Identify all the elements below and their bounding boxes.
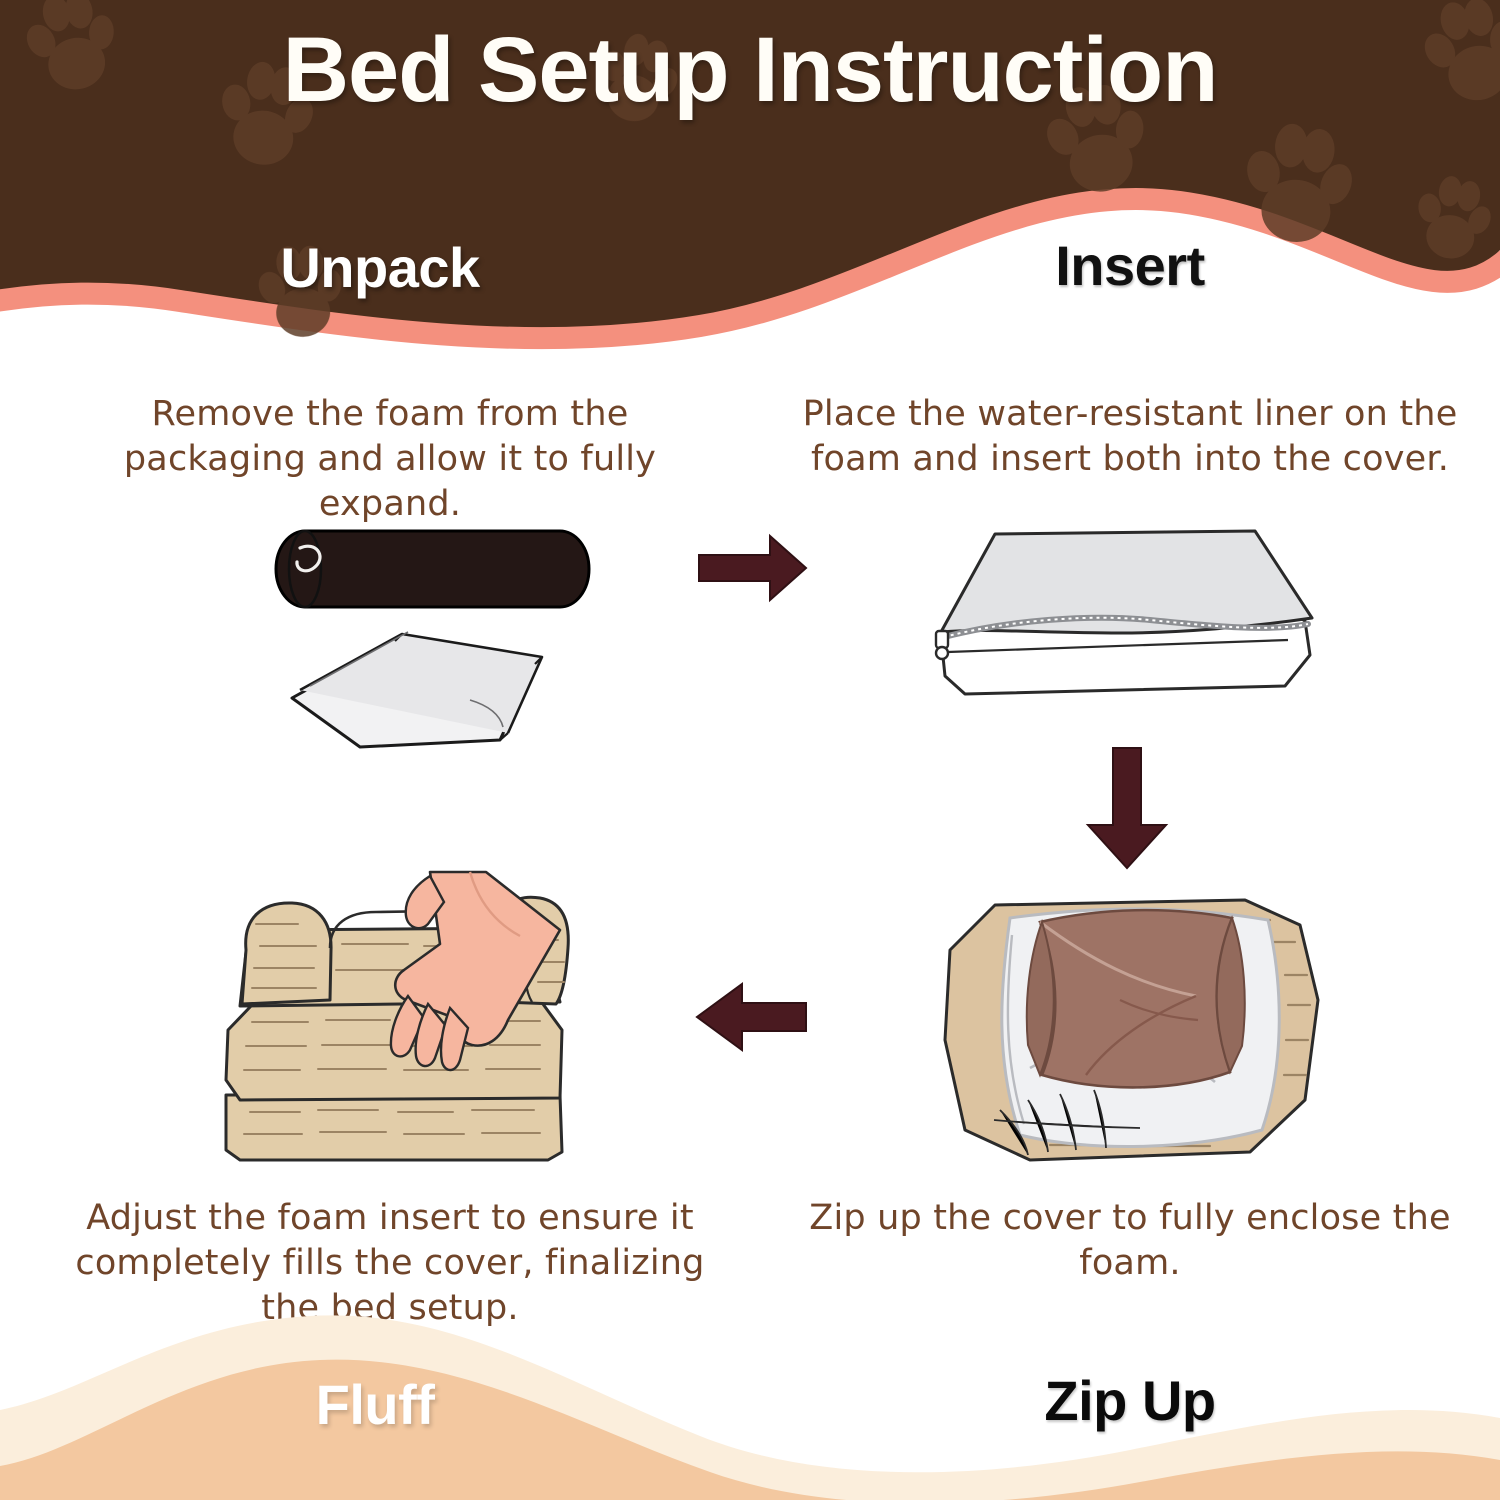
- illustration-folded-liner: [292, 632, 542, 747]
- caption-insert: Place the water-resistant liner on the f…: [795, 392, 1465, 482]
- illustration-zippered-cover: [936, 531, 1312, 694]
- header-banner: Bed Setup Instruction Unpack Insert: [0, 0, 1500, 360]
- step-label-zip-up: Zip Up: [880, 1373, 1380, 1429]
- step-label-fluff: Fluff: [125, 1377, 625, 1433]
- arrow-right-icon: [699, 536, 806, 600]
- footer-banner: Fluff Zip Up: [0, 1300, 1500, 1500]
- caption-unpack: Remove the foam from the packaging and a…: [55, 392, 725, 526]
- page-title: Bed Setup Instruction: [0, 22, 1500, 119]
- illustration-hand-on-bed: [226, 872, 568, 1160]
- step-label-insert: Insert: [880, 238, 1380, 294]
- illustration-cover-with-foam: [945, 900, 1318, 1160]
- caption-zip-up: Zip up the cover to fully enclose the fo…: [800, 1196, 1460, 1286]
- arrow-down-icon: [1088, 748, 1166, 868]
- infographic-page: Bed Setup Instruction Unpack Insert: [0, 0, 1500, 1500]
- step-label-unpack: Unpack: [130, 240, 630, 296]
- illustration-rolled-foam: [276, 531, 589, 607]
- arrow-left-icon: [697, 984, 806, 1050]
